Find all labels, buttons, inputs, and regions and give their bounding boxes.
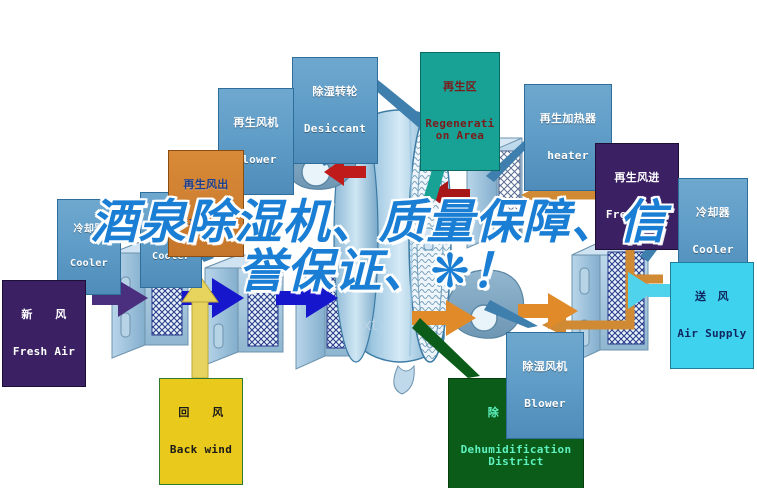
label-air-supply-en: Air Supply xyxy=(673,328,751,340)
label-fresh-air-cn: 新 风 xyxy=(5,309,83,321)
label-cooler-left-en: Cooler xyxy=(60,258,118,269)
label-cooler-left-cn: 冷却器 xyxy=(60,224,118,235)
label-dehumidification-blower-en: Blower xyxy=(509,398,581,410)
diagram-canvas: xt xyxy=(0,0,757,488)
label-back-wind-en: Back wind xyxy=(162,444,240,456)
label-regeneration-area-en: Regenerati on Area xyxy=(423,118,497,143)
label-regeneration-fresh-air: 再生风进 Fresh Air xyxy=(595,143,679,250)
label-fresh-air-en: Fresh Air xyxy=(5,346,83,358)
label-regeneration-area-cn: 再生区 xyxy=(423,81,497,93)
label-dehumidification-blower: 除湿风机 Blower xyxy=(506,332,584,439)
label-back-wind: 回 风 Back wind xyxy=(159,378,243,485)
label-air-supply-cn: 送 风 xyxy=(673,291,751,303)
label-cooler-right-cn: 冷却器 xyxy=(681,207,745,219)
label-regeneration-fresh-air-cn: 再生风进 xyxy=(598,172,676,184)
label-regeneration-blower-cn: 再生风机 xyxy=(221,117,291,129)
rotor-watermark: xt xyxy=(362,315,378,334)
label-regeneration-area: 再生区 Regenerati on Area xyxy=(420,52,500,171)
label-dehumidification-district-en: Dehumidification District xyxy=(451,444,581,469)
label-dehumidification-blower-cn: 除湿风机 xyxy=(509,361,581,373)
label-fresh-air: 新 风 Fresh Air xyxy=(2,280,86,387)
label-desiccant-cn: 除湿转轮 xyxy=(295,86,375,98)
label-cooler-right-en: Cooler xyxy=(681,244,745,256)
label-exhaust-en: Exhaust xyxy=(171,216,241,228)
label-desiccant: 除湿转轮 Desiccant xyxy=(292,57,378,164)
label-back-wind-cn: 回 风 xyxy=(162,407,240,419)
label-regeneration-fresh-air-en: Fresh Air xyxy=(598,209,676,221)
label-regeneration-heater-cn: 再生加热器 xyxy=(527,113,609,125)
label-exhaust: 再生风出 Exhaust xyxy=(168,150,244,257)
label-air-supply: 送 风 Air Supply xyxy=(670,262,754,369)
label-desiccant-en: Desiccant xyxy=(295,123,375,135)
label-exhaust-cn: 再生风出 xyxy=(171,179,241,191)
